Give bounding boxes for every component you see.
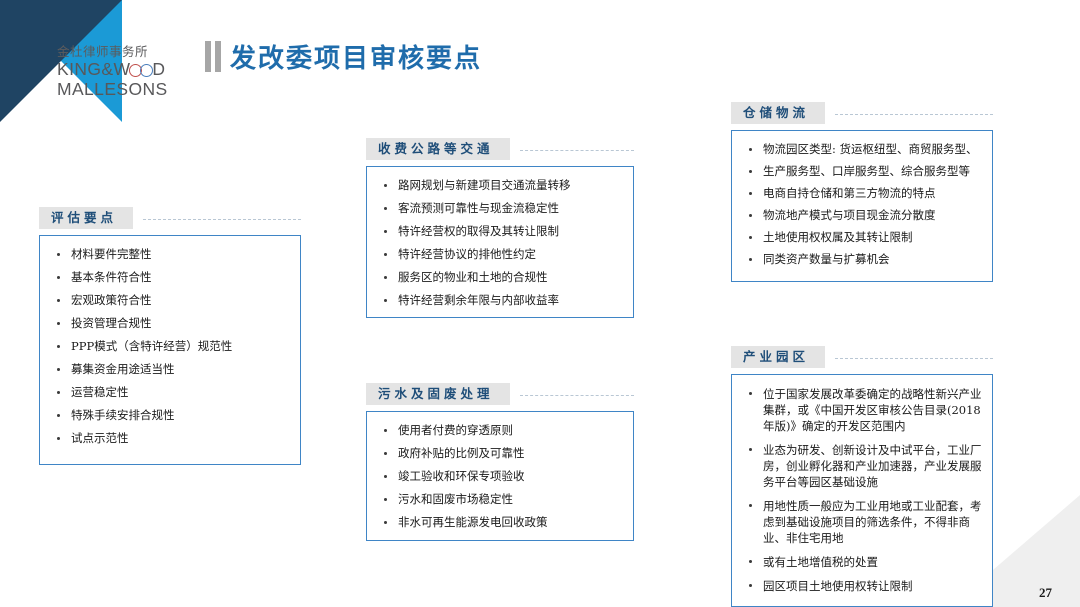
card-body: 材料要件完整性 基本条件符合性 宏观政策符合性 投资管理合规性 PPP模式（含特… <box>39 235 301 465</box>
list-item: 募集资金用途适当性 <box>52 362 290 377</box>
header-dashed-line <box>520 395 634 396</box>
list-item: 运营稳定性 <box>52 385 290 400</box>
card-body: 使用者付费的穿透原则 政府补贴的比例及可靠性 竣工验收和环保专项验收 污水和固废… <box>366 411 634 541</box>
list-item: 物流园区类型: 货运枢纽型、商贸服务型、 <box>744 142 982 157</box>
list-item: 位于国家发展改革委确定的战略性新兴产业集群，或《中国开发区审核公告目录(2018… <box>744 386 982 434</box>
bullet-list: 路网规划与新建项目交通流量转移 客流预测可靠性与现金流稳定性 特许经营权的取得及… <box>379 178 623 308</box>
list-item: 投资管理合规性 <box>52 316 290 331</box>
card-title-badge: 收费公路等交通 <box>366 138 510 160</box>
list-item: 特许经营剩余年限与内部收益率 <box>379 293 623 308</box>
card-industrial-park: 产业园区 位于国家发展改革委确定的战略性新兴产业集群，或《中国开发区审核公告目录… <box>731 346 993 607</box>
list-item: 生产服务型、口岸服务型、综合服务型等 <box>744 164 982 179</box>
list-item: 非水可再生能源发电回收政策 <box>379 515 623 530</box>
list-item: 同类资产数量与扩募机会 <box>744 252 982 267</box>
slide-title-block: 发改委项目审核要点 <box>205 38 482 75</box>
list-item: 路网规划与新建项目交通流量转移 <box>379 178 623 193</box>
card-header: 评估要点 <box>39 207 301 229</box>
card-sewage-solid-waste: 污水及固废处理 使用者付费的穿透原则 政府补贴的比例及可靠性 竣工验收和环保专项… <box>366 383 634 541</box>
card-body: 位于国家发展改革委确定的战略性新兴产业集群，或《中国开发区审核公告目录(2018… <box>731 374 993 607</box>
bullet-list: 位于国家发展改革委确定的战略性新兴产业集群，或《中国开发区审核公告目录(2018… <box>744 386 982 594</box>
list-item: 用地性质一般应为工业用地或工业配套，考虑到基础设施项目的筛选条件，不得非商业、非… <box>744 498 982 546</box>
title-bars-decoration-icon <box>205 41 221 72</box>
list-item: 客流预测可靠性与现金流稳定性 <box>379 201 623 216</box>
logo-d-text: D <box>152 59 165 79</box>
list-item: 基本条件符合性 <box>52 270 290 285</box>
card-header: 污水及固废处理 <box>366 383 634 405</box>
list-item: 试点示范性 <box>52 431 290 446</box>
card-body: 物流园区类型: 货运枢纽型、商贸服务型、 生产服务型、口岸服务型、综合服务型等 … <box>731 130 993 282</box>
page-title: 发改委项目审核要点 <box>230 38 482 75</box>
list-item: 污水和固废市场稳定性 <box>379 492 623 507</box>
list-item: 电商自持仓储和第三方物流的特点 <box>744 186 982 201</box>
list-item: 或有土地增值税的处置 <box>744 554 982 570</box>
list-item: 物流地产模式与项目现金流分散度 <box>744 208 982 223</box>
list-item: PPP模式（含特许经营）规范性 <box>52 339 290 354</box>
firm-logo: 金杜律师事务所 KING&WD MALLESONS <box>57 44 187 99</box>
list-item: 园区项目土地使用权转让限制 <box>744 578 982 594</box>
card-body: 路网规划与新建项目交通流量转移 客流预测可靠性与现金流稳定性 特许经营权的取得及… <box>366 166 634 318</box>
card-header: 收费公路等交通 <box>366 138 634 160</box>
list-item: 业态为研发、创新设计及中试平台，工业厂房，创业孵化器和产业加速器，产业发展服务平… <box>744 442 982 490</box>
card-title-badge: 污水及固废处理 <box>366 383 510 405</box>
bullet-list: 使用者付费的穿透原则 政府补贴的比例及可靠性 竣工验收和环保专项验收 污水和固废… <box>379 423 623 530</box>
list-item: 特许经营权的取得及其转让限制 <box>379 224 623 239</box>
logo-kingwood-text: KING&W <box>57 59 130 79</box>
logo-chinese-name: 金杜律师事务所 <box>57 44 187 59</box>
list-item: 特殊手续安排合规性 <box>52 408 290 423</box>
page-number: 27 <box>1039 585 1052 601</box>
logo-english-line2: MALLESONS <box>57 79 187 99</box>
list-item: 竣工验收和环保专项验收 <box>379 469 623 484</box>
card-title-badge: 产业园区 <box>731 346 825 368</box>
card-title-badge: 评估要点 <box>39 207 133 229</box>
list-item: 材料要件完整性 <box>52 247 290 262</box>
header-dashed-line <box>835 358 993 359</box>
header-dashed-line <box>143 219 301 220</box>
header-dashed-line <box>520 150 634 151</box>
list-item: 政府补贴的比例及可靠性 <box>379 446 623 461</box>
card-title-badge: 仓储物流 <box>731 102 825 124</box>
list-item: 特许经营协议的排他性约定 <box>379 247 623 262</box>
bullet-list: 物流园区类型: 货运枢纽型、商贸服务型、 生产服务型、口岸服务型、综合服务型等 … <box>744 142 982 267</box>
list-item: 使用者付费的穿透原则 <box>379 423 623 438</box>
slide-canvas: 金杜律师事务所 KING&WD MALLESONS 发改委项目审核要点 评估要点… <box>0 0 1080 607</box>
logo-english-line1: KING&WD <box>57 59 187 79</box>
header-dashed-line <box>835 114 993 115</box>
card-header: 仓储物流 <box>731 102 993 124</box>
card-warehouse-logistics: 仓储物流 物流园区类型: 货运枢纽型、商贸服务型、 生产服务型、口岸服务型、综合… <box>731 102 993 282</box>
card-header: 产业园区 <box>731 346 993 368</box>
bullet-list: 材料要件完整性 基本条件符合性 宏观政策符合性 投资管理合规性 PPP模式（含特… <box>52 247 290 446</box>
list-item: 土地使用权权属及其转让限制 <box>744 230 982 245</box>
card-toll-roads-transport: 收费公路等交通 路网规划与新建项目交通流量转移 客流预测可靠性与现金流稳定性 特… <box>366 138 634 318</box>
list-item: 服务区的物业和土地的合规性 <box>379 270 623 285</box>
list-item: 宏观政策符合性 <box>52 293 290 308</box>
card-evaluation-points: 评估要点 材料要件完整性 基本条件符合性 宏观政策符合性 投资管理合规性 PPP… <box>39 207 301 465</box>
